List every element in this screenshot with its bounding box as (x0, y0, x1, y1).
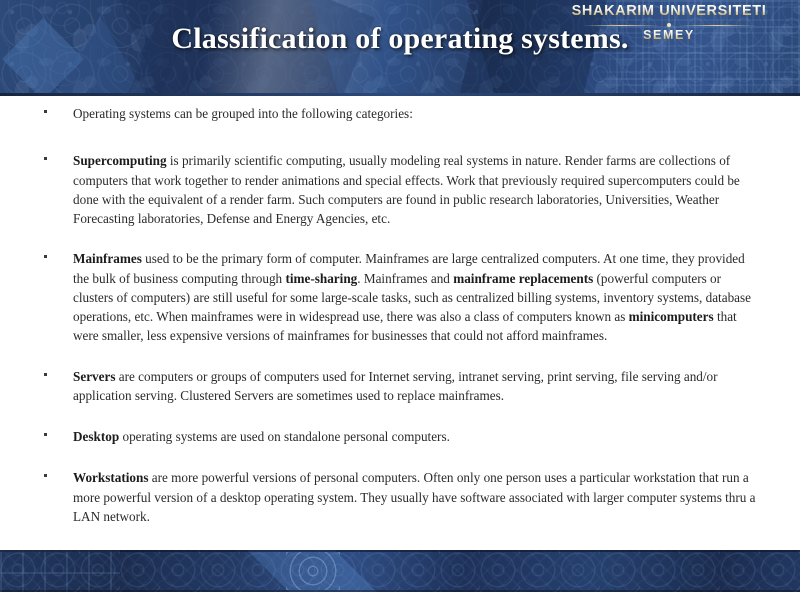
page-title: Classification of operating systems. (0, 22, 800, 56)
bullet-text-desktop: Desktop operating systems are used on st… (73, 429, 450, 444)
bullet-marker-icon (44, 433, 47, 436)
header-bottom-rim (0, 93, 800, 96)
footer-top-rim (0, 550, 800, 552)
content-body: Operating systems can be grouped into th… (40, 104, 758, 526)
bullet-mainframes: Mainframes used to be the primary form o… (40, 249, 758, 345)
footer-bottom-rim (0, 590, 800, 592)
slide: Classification of operating systems. Ope… (0, 0, 800, 600)
bullet-text-intro: Operating systems can be grouped into th… (73, 106, 413, 121)
bullet-marker-icon (44, 110, 47, 113)
bullet-text-workstations: Workstations are more powerful versions … (73, 470, 756, 524)
bullet-servers: Servers are computers or groups of compu… (40, 367, 758, 406)
bullet-workstations: Workstations are more powerful versions … (40, 468, 758, 526)
bullet-intro: Operating systems can be grouped into th… (40, 104, 758, 123)
footer-center-rosette-icon (286, 552, 340, 590)
bullet-marker-icon (44, 255, 47, 258)
university-logo-name: SHAKARIM UNIVERSITETI (554, 4, 784, 20)
bullet-text-mainframes: Mainframes used to be the primary form o… (73, 251, 751, 343)
bullet-text-servers: Servers are computers or groups of compu… (73, 369, 718, 403)
bullet-marker-icon (44, 373, 47, 376)
bullet-text-supercomputing: Supercomputing is primarily scientific c… (73, 153, 740, 226)
footer-band (0, 550, 800, 592)
bullet-desktop: Desktop operating systems are used on st… (40, 427, 758, 446)
footer-meander-ornament-icon (0, 550, 120, 592)
bullet-supercomputing: Supercomputing is primarily scientific c… (40, 151, 758, 228)
footer-ornament-icon (0, 550, 800, 592)
bullet-marker-icon (44, 474, 47, 477)
bullet-marker-icon (44, 157, 47, 160)
